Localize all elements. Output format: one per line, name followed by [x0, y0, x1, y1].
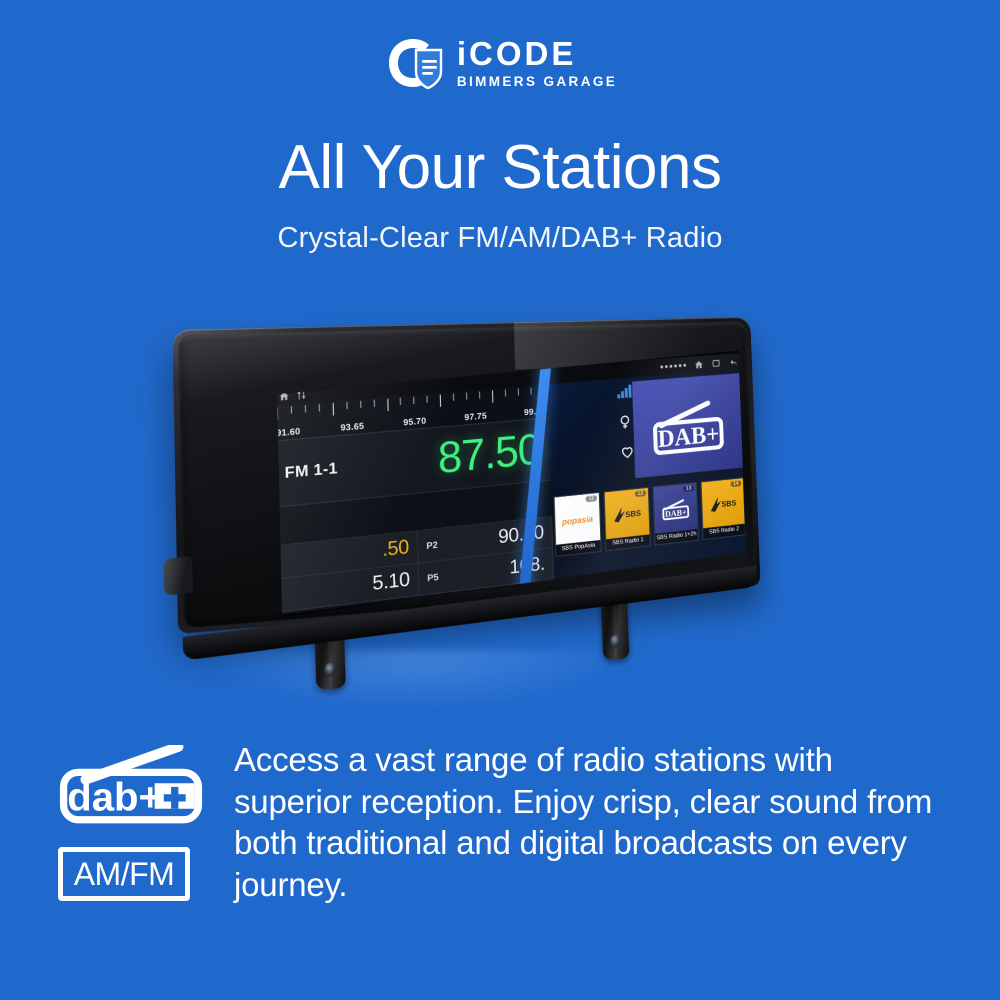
- preset-value: 90.10: [498, 522, 544, 549]
- status-tray-icons: [660, 364, 686, 369]
- station-tile[interactable]: 11 popasia SBS PopAsia: [553, 492, 601, 557]
- sbs-logo-icon: SBS: [612, 501, 643, 526]
- page-subtitle: Crystal-Clear FM/AM/DAB+ Radio: [0, 222, 1000, 255]
- preset-key: P2: [426, 539, 438, 551]
- scale-label: 93.65: [340, 420, 364, 432]
- scale-label: 95.70: [403, 415, 426, 427]
- station-tile[interactable]: 12 SBS SBS Radio 1: [604, 487, 651, 552]
- brand-header: iCODE BIMMERS GARAGE: [0, 28, 1000, 98]
- brand-tagline: BIMMERS GARAGE: [457, 75, 617, 89]
- page-title: All Your Stations: [0, 135, 1000, 200]
- device-side-knob: [163, 556, 193, 596]
- svg-text:SBS: SBS: [625, 507, 641, 518]
- sbs-logo-icon: SBS: [708, 491, 738, 516]
- dab-radio-pane[interactable]: DAB+ 11 po: [548, 369, 746, 582]
- head-unit-device: 91.60 93.65 95.70 97.75 99.80 FM 1-1 87.…: [180, 318, 820, 683]
- station-tile[interactable]: 13 DAB+ SBS Radio 1: [652, 482, 698, 546]
- title-block: All Your Stations Crystal-Clear FM/AM/DA…: [0, 135, 1000, 255]
- frequency-display: 87.50: [437, 428, 541, 481]
- dab-plus-text: DAB+: [657, 420, 719, 453]
- icode-g-shield-icon: [383, 36, 445, 90]
- brand-wordmark: iCODE BIMMERS GARAGE: [457, 37, 617, 89]
- svg-text:SBS: SBS: [721, 497, 737, 508]
- am-fm-badge-text: AM/FM: [74, 856, 175, 893]
- dab-plus-icon: DAB+: [660, 496, 690, 521]
- badge-column: dab+ AM/FM: [58, 735, 208, 901]
- back-arrow-icon[interactable]: [728, 356, 737, 366]
- footer-section: dab+ AM/FM Access a vast range of radio …: [58, 735, 948, 905]
- favorite-heart-icon[interactable]: [619, 443, 636, 461]
- brand-name: iCODE: [457, 37, 577, 70]
- dab-badge-text: dab+: [67, 776, 162, 820]
- signal-bars-icon: [617, 383, 634, 401]
- am-fm-badge: AM/FM: [58, 847, 190, 901]
- preset-value: .50: [382, 536, 409, 562]
- station-tile[interactable]: 14 SBS SBS Radio 2: [700, 477, 746, 540]
- dab-plus-hero-tile[interactable]: DAB+: [632, 373, 743, 478]
- tile-number: 13: [683, 485, 694, 492]
- scale-label: 97.75: [464, 410, 487, 422]
- fm-radio-pane[interactable]: 91.60 93.65 95.70 97.75 99.80 FM 1-1 87.…: [277, 384, 554, 615]
- tile-number: 12: [635, 490, 647, 497]
- preset-value: 5.10: [372, 569, 410, 596]
- footer-body-text: Access a vast range of radio stations wi…: [234, 735, 948, 905]
- tile-number: 11: [586, 495, 597, 502]
- device-body: 91.60 93.65 95.70 97.75 99.80 FM 1-1 87.…: [172, 317, 760, 634]
- tile-number: 14: [730, 480, 741, 487]
- svg-text:popasia: popasia: [561, 513, 593, 526]
- search-icon[interactable]: [618, 413, 635, 431]
- recents-square-icon[interactable]: [711, 358, 720, 368]
- band-label: FM 1-1: [285, 459, 338, 482]
- home-icon[interactable]: [694, 359, 703, 369]
- preset-key: P5: [427, 572, 439, 584]
- dab-plus-icon: DAB+: [648, 394, 729, 456]
- popasia-logo-icon: popasia: [561, 508, 594, 530]
- dab-plus-badge: dab+: [58, 745, 204, 827]
- scale-label: 91.60: [277, 426, 300, 439]
